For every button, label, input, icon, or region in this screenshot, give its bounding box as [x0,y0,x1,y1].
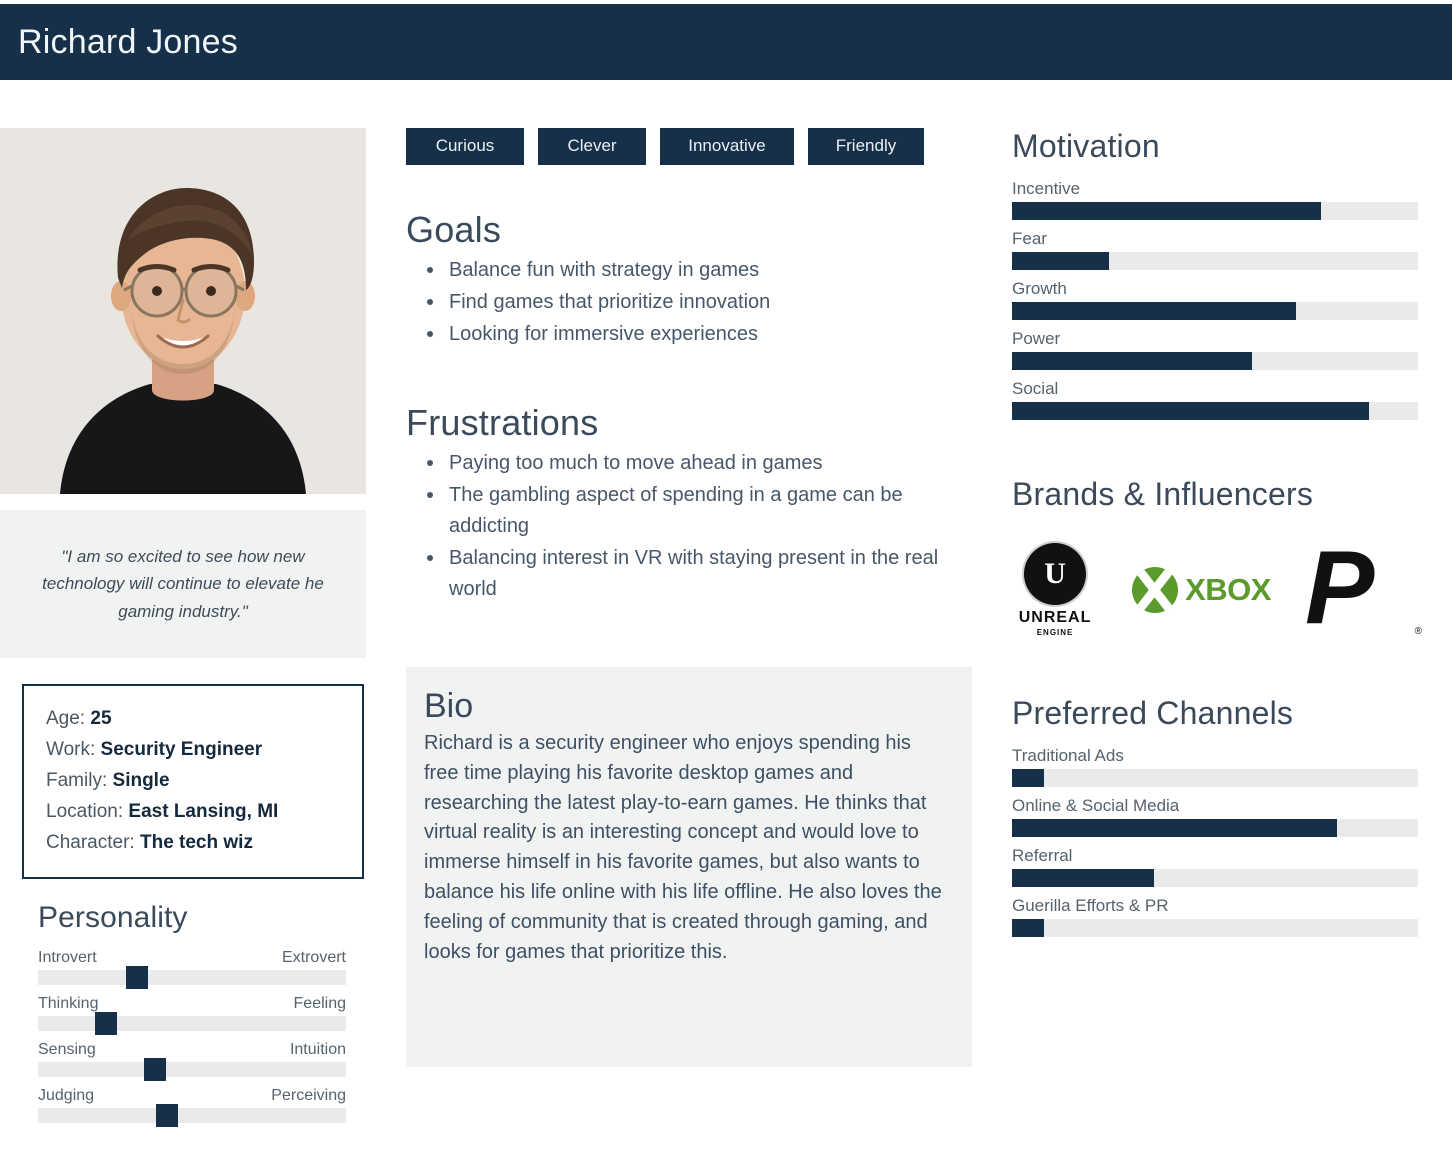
unreal-word-secondary: ENGINE [1012,628,1098,637]
channel-bar-row: Traditional Ads [1012,746,1418,787]
bar-label: Fear [1012,229,1418,249]
persona-page: Richard Jones [0,0,1452,1168]
trait-labels: Thinking Feeling [38,995,346,1013]
demographics-row: Character: The tech wiz [46,828,342,859]
bar-label: Incentive [1012,179,1418,199]
xbox-icon: XBOX [1132,567,1271,613]
trait-slider-knob[interactable] [144,1058,166,1081]
bar-label: Growth [1012,279,1418,299]
bar-label: Traditional Ads [1012,746,1418,766]
demographics-row: Age: 25 [46,704,342,735]
bar-fill [1012,869,1154,887]
playstation-wordmark: P [1305,539,1418,638]
brand-logos: U UNREAL ENGINE XBOX P ® [1012,537,1418,643]
brands-section: Brands & Influencers U UNREAL ENGINE XBO… [1012,476,1418,643]
frustrations-list: Paying too much to move ahead in games T… [406,448,972,605]
goals-list: Balance fun with strategy in games Find … [406,255,972,350]
bar-track [1012,202,1418,220]
bio-section: Bio Richard is a security engineer who e… [406,667,972,1067]
list-item: Find games that prioritize innovation [422,287,972,318]
goals-section: Goals Balance fun with strategy in games… [406,209,972,350]
list-item: Looking for immersive experiences [422,319,972,350]
bar-fill [1012,352,1252,370]
bar-label: Social [1012,379,1418,399]
bar-track [1012,869,1418,887]
trait-labels: Introvert Extrovert [38,949,346,967]
xbox-mark [1132,567,1178,613]
personality-trait: Thinking Feeling [38,995,346,1031]
bar-track [1012,352,1418,370]
frustrations-title: Frustrations [406,402,972,444]
unreal-mark: U [1024,543,1086,605]
channel-bar-row: Referral [1012,846,1418,887]
bar-track [1012,769,1418,787]
bar-track [1012,252,1418,270]
bar-track [1012,302,1418,320]
registered-trademark-icon: ® [1415,626,1422,637]
bar-fill [1012,202,1321,220]
motivation-bar-row: Fear [1012,229,1418,270]
bar-label: Online & Social Media [1012,796,1418,816]
list-item: Balance fun with strategy in games [422,255,972,286]
demographics-box: Age: 25 Work: Security Engineer Family: … [22,684,364,879]
bar-label: Guerilla Efforts & PR [1012,896,1418,916]
channel-bar-row: Guerilla Efforts & PR [1012,896,1418,937]
trait-tags: Curious Clever Innovative Friendly [406,128,972,165]
channel-bar-row: Online & Social Media [1012,796,1418,837]
personality-section: Personality Introvert Extrovert Thinking… [38,901,346,1123]
right-column: Motivation Incentive Fear Growth [1012,128,1418,946]
bar-fill [1012,302,1296,320]
trait-left-label: Sensing [38,1041,96,1059]
bar-fill [1012,252,1109,270]
tag-friendly[interactable]: Friendly [808,128,924,165]
trait-labels: Sensing Intuition [38,1041,346,1059]
trait-right-label: Extrovert [282,949,346,967]
trait-left-label: Introvert [38,949,97,967]
demographics-value: Security Engineer [101,739,263,760]
trait-slider-track[interactable] [38,1108,346,1123]
bar-fill [1012,769,1044,787]
demographics-label: Location: [46,801,123,822]
trait-left-label: Thinking [38,995,98,1013]
xbox-wordmark: XBOX [1185,572,1271,608]
motivation-title: Motivation [1012,128,1418,165]
portrait-illustration [0,128,366,494]
motivation-bar-row: Power [1012,329,1418,370]
brands-title: Brands & Influencers [1012,476,1418,513]
frustrations-section: Frustrations Paying too much to move ahe… [406,402,972,605]
tag-clever[interactable]: Clever [538,128,646,165]
center-column: Curious Clever Innovative Friendly Goals… [406,128,972,1067]
trait-right-label: Perceiving [271,1087,346,1105]
motivation-section: Motivation Incentive Fear Growth [1012,128,1418,420]
demographics-label: Family: [46,770,107,791]
motivation-bar-row: Incentive [1012,179,1418,220]
demographics-value: Single [113,770,170,791]
list-item: Balancing interest in VR with staying pr… [422,543,972,605]
motivation-bars: Incentive Fear Growth [1012,179,1418,420]
quote-box: "I am so excited to see how new technolo… [0,510,366,658]
demographics-value: East Lansing, MI [128,801,278,822]
bar-track [1012,402,1418,420]
trait-left-label: Judging [38,1087,94,1105]
demographics-label: Age: [46,708,85,729]
playstation-icon: P ® [1305,539,1418,641]
trait-right-label: Feeling [294,995,346,1013]
trait-right-label: Intuition [290,1041,346,1059]
personality-trait: Introvert Extrovert [38,949,346,985]
trait-slider-track[interactable] [38,1062,346,1077]
demographics-row: Location: East Lansing, MI [46,797,342,828]
tag-curious[interactable]: Curious [406,128,524,165]
bar-label: Power [1012,329,1418,349]
bar-track [1012,819,1418,837]
demographics-label: Character: [46,832,135,853]
trait-slider-knob[interactable] [126,966,148,989]
unreal-glyph: U [1024,557,1086,591]
demographics-row: Work: Security Engineer [46,735,342,766]
bar-fill [1012,402,1369,420]
demographics-row: Family: Single [46,766,342,797]
goals-title: Goals [406,209,972,251]
demographics-value: 25 [90,708,111,729]
personality-title: Personality [38,901,346,935]
personality-trait: Sensing Intuition [38,1041,346,1077]
motivation-bar-row: Social [1012,379,1418,420]
channels-bars: Traditional Ads Online & Social Media Re… [1012,746,1418,937]
trait-labels: Judging Perceiving [38,1087,346,1105]
channels-title: Preferred Channels [1012,695,1418,732]
avatar [0,128,366,494]
unreal-engine-icon: U UNREAL ENGINE [1012,543,1098,637]
left-column: "I am so excited to see how new technolo… [0,128,366,1133]
bar-track [1012,919,1418,937]
page-title: Richard Jones [18,23,238,62]
personality-trait: Judging Perceiving [38,1087,346,1123]
page-header: Richard Jones [0,4,1452,80]
bio-title: Bio [424,687,950,726]
demographics-label: Work: [46,739,95,760]
bar-label: Referral [1012,846,1418,866]
trait-slider-track[interactable] [38,970,346,985]
motivation-bar-row: Growth [1012,279,1418,320]
list-item: The gambling aspect of spending in a gam… [422,480,972,542]
demographics-value: The tech wiz [140,832,253,853]
trait-slider-track[interactable] [38,1016,346,1031]
list-item: Paying too much to move ahead in games [422,448,972,479]
quote-text: "I am so excited to see how new technolo… [30,543,336,625]
tag-innovative[interactable]: Innovative [660,128,794,165]
trait-slider-knob[interactable] [156,1104,178,1127]
unreal-word-primary: UNREAL [1012,610,1098,626]
channels-section: Preferred Channels Traditional Ads Onlin… [1012,695,1418,937]
bio-text: Richard is a security engineer who enjoy… [424,729,950,967]
bar-fill [1012,819,1337,837]
bar-fill [1012,919,1044,937]
trait-slider-knob[interactable] [95,1012,117,1035]
